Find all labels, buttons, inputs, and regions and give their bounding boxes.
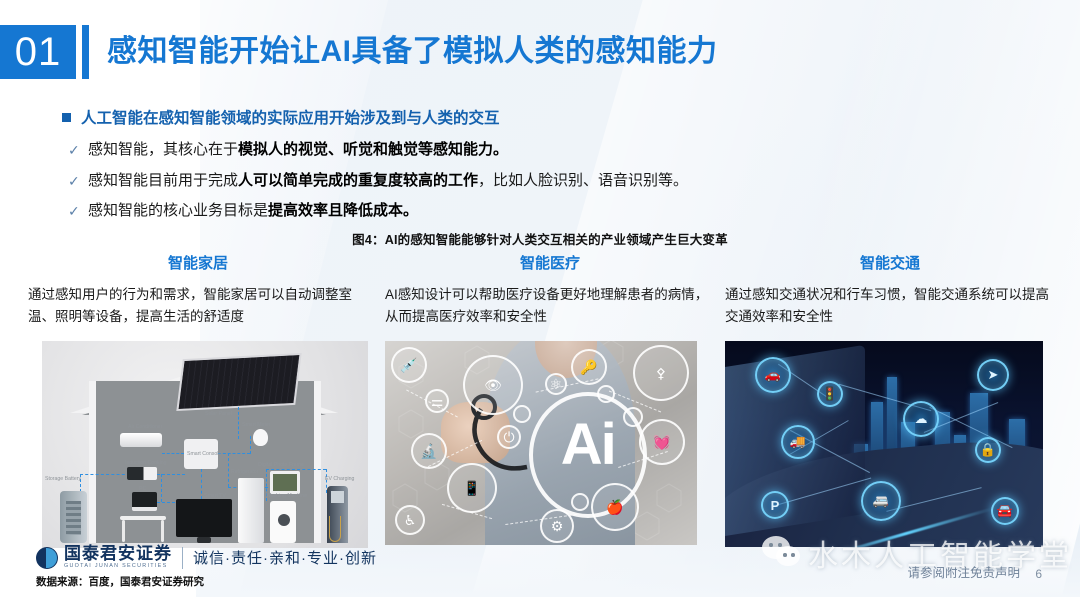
- logo-chinese-name: 国泰君安证券: [64, 545, 172, 562]
- microscope-icon: 🔬: [411, 433, 447, 469]
- image-label: EV Charging: [325, 476, 354, 482]
- ev-charging-cable: [329, 516, 341, 542]
- lead-bullet-row: 人工智能在感知智能领域的实际应用开始涉及到与人类的交互: [62, 106, 500, 128]
- image-label: Air Conditioner: [128, 424, 162, 430]
- connection-line: [218, 453, 250, 454]
- smart-home-image: Solar Panel Smart Meter Air Conditioner …: [42, 341, 368, 548]
- navigation-node-icon: ➤: [977, 359, 1009, 391]
- guotai-junan-logo-icon: [36, 547, 58, 569]
- thermometer-icon: ⚌: [425, 389, 449, 413]
- header-divider-bar: [82, 25, 89, 79]
- check-list: ✓ 感知智能，其核心在于模拟人的视觉、听觉和触觉等感知能力。 ✓ 感知智能目前用…: [68, 140, 1028, 232]
- tv-stand: [197, 537, 211, 543]
- column-smart-traffic: 智能交通 通过感知交通状况和行车习惯，智能交通系统可以提高交通效率和安全性: [725, 252, 1055, 328]
- page-number: 6: [1035, 567, 1042, 581]
- image-label: Storage Battery: [45, 476, 81, 482]
- desk-top: [120, 516, 166, 520]
- image-label: Solar Panel: [205, 411, 232, 417]
- small-node-icon: [597, 385, 615, 403]
- logo-english-name: GUOTAI JUNAN SECURITIES: [64, 562, 172, 570]
- accessibility-icon: ♿: [395, 505, 425, 535]
- list-item: ✓ 感知智能目前用于完成人可以简单完成的重复度较高的工作，比如人脸识别、语音识别…: [68, 171, 1028, 191]
- image-label: Smart TV: [204, 493, 226, 499]
- cloud-node-icon: ☁: [903, 401, 939, 437]
- list-item-text: 感知智能的核心业务目标是提高效率且降低成本。: [88, 201, 418, 221]
- car-node-icon: 🚗: [755, 357, 791, 393]
- connection-line: [80, 474, 130, 475]
- smart-meter-icon: [253, 429, 268, 446]
- pharmacy-icon: ⚴: [633, 345, 689, 401]
- list-item-plain-1: 感知智能的核心业务目标是: [88, 202, 268, 219]
- column-smart-home: 智能家居 通过感知用户的行为和需求，智能家居可以自动调整室温、照明等设备，提高生…: [28, 252, 368, 328]
- column-smart-medical: 智能医疗 AI感知设计可以帮助医疗设备更好地理解患者的病情，从而提高医疗效率和安…: [385, 252, 715, 328]
- power-icon: ⏻: [497, 425, 521, 449]
- list-item-bold: 人可以简单完成的重复度较高的工作: [238, 172, 478, 189]
- eye-icon: 👁: [463, 355, 523, 415]
- image-label: Induction Cooking: [125, 460, 167, 466]
- slide-header: 01 感知智能开始让AI具备了模拟人类的感知能力: [0, 25, 718, 79]
- column-description: 通过感知交通状况和行车习惯，智能交通系统可以提高交通效率和安全性: [725, 284, 1055, 328]
- desk-leg: [122, 520, 125, 542]
- section-number-badge: 01: [0, 25, 76, 79]
- connection-line: [228, 453, 229, 487]
- truck-node-icon: 🚚: [781, 425, 815, 459]
- data-source-note: 数据来源：百度，国泰君安证券研究: [36, 574, 377, 589]
- car-node-icon-2: 🚘: [991, 497, 1019, 525]
- slide-footer: 国泰君安证券 GUOTAI JUNAN SECURITIES 诚信·责任·亲和·…: [36, 545, 377, 589]
- image-label: PC: [139, 486, 146, 492]
- smart-traffic-image: 🚗 🚦 🚚 ☁ ➤ 🔒 🚐 P 🚘: [725, 341, 1043, 547]
- smartphone-icon: 📱: [447, 463, 497, 513]
- check-icon: ✓: [68, 171, 88, 191]
- small-node-icon: [571, 493, 589, 511]
- image-label: Washing Machine: [266, 493, 307, 499]
- column-heading: 智能交通: [725, 252, 1055, 273]
- slide-canvas: 01 感知智能开始让AI具备了模拟人类的感知能力 人工智能在感知智能领域的实际应…: [0, 0, 1080, 597]
- digital-photo-frame-icon: [270, 471, 300, 494]
- figure-caption: 图4：AI的感知智能能够针对人类交互相关的产业领域产生巨大变革: [0, 229, 1080, 248]
- connection-line: [266, 469, 326, 470]
- column-heading: 智能医疗: [385, 252, 715, 273]
- column-description: AI感知设计可以帮助医疗设备更好地理解患者的病情，从而提高医疗效率和安全性: [385, 284, 715, 328]
- check-icon: ✓: [68, 201, 88, 221]
- bus-node-icon: 🚐: [861, 481, 901, 521]
- gear-icon: ⚙: [540, 509, 574, 543]
- company-slogan: 诚信·责任·亲和·专业·创新: [193, 547, 377, 568]
- apple-icon: 🍎: [591, 483, 639, 531]
- image-label: Digital Photo Frame: [258, 462, 304, 468]
- column-heading: 智能家居: [28, 252, 368, 273]
- connection-line: [162, 453, 184, 454]
- syringe-icon: 💉: [391, 347, 427, 383]
- list-item-plain-1: 感知智能，其核心在于: [88, 141, 238, 158]
- lock-node-icon: 🔒: [975, 437, 1001, 463]
- column-description: 通过感知用户的行为和需求，智能家居可以自动调整室温、照明等设备，提高生活的舒适度: [28, 284, 368, 328]
- solar-panel-icon: [176, 353, 301, 411]
- lead-bullet-text: 人工智能在感知智能领域的实际应用开始涉及到与人类的交互: [81, 106, 500, 128]
- square-bullet-icon: [62, 113, 71, 122]
- small-node-icon: [513, 405, 531, 423]
- image-label: Refrigerator: [231, 469, 258, 475]
- connection-line: [201, 469, 202, 499]
- refrigerator-icon: [238, 478, 264, 543]
- list-item-text: 感知智能目前用于完成人可以简单完成的重复度较高的工作，比如人脸识别、语音识别等。: [88, 171, 688, 191]
- list-item: ✓ 感知智能的核心业务目标是提高效率且降低成本。: [68, 201, 1028, 221]
- storage-battery-cells: [66, 501, 81, 535]
- image-label: Smart Console: [187, 451, 221, 457]
- connection-line: [250, 436, 251, 454]
- air-conditioner-icon: [120, 433, 162, 447]
- logo-text-block: 国泰君安证券 GUOTAI JUNAN SECURITIES: [64, 545, 172, 570]
- list-item-plain-1: 感知智能目前用于完成: [88, 172, 238, 189]
- disclaimer-note: 请参阅附注免责声明: [907, 562, 1020, 581]
- list-item-bold: 模拟人的视觉、听觉和触觉等感知能力。: [238, 141, 508, 158]
- list-item-plain-2: ，比如人脸识别、语音识别等。: [478, 172, 688, 189]
- heart-rate-icon: 💓: [639, 419, 685, 465]
- small-node-icon: [623, 407, 643, 427]
- list-item-text: 感知智能，其核心在于模拟人的视觉、听觉和触觉等感知能力。: [88, 140, 508, 160]
- induction-cooking-icon: [127, 467, 157, 480]
- page-title: 感知智能开始让AI具备了模拟人类的感知能力: [107, 25, 718, 79]
- footer-logo-row: 国泰君安证券 GUOTAI JUNAN SECURITIES 诚信·责任·亲和·…: [36, 545, 377, 570]
- smart-tv-icon: [176, 499, 232, 537]
- medical-ai-image: Ai 💉 ⚌ 👁 ⏻ 🔬 📱 ♿ ⚙ ⚛ 🔑 ⚴ 💓 🍎: [385, 341, 697, 545]
- ev-charging-screen: [331, 491, 344, 503]
- list-item-bold: 提高效率且降低成本。: [268, 202, 418, 219]
- washing-machine-door: [278, 514, 290, 526]
- parking-node-icon: P: [761, 491, 789, 519]
- logo-divider: [182, 547, 183, 569]
- check-icon: ✓: [68, 140, 88, 160]
- dna-icon: ⚛: [545, 373, 567, 395]
- traffic-light-icon: 🚦: [817, 381, 843, 407]
- connection-line: [238, 407, 239, 439]
- image-label: Smart Meter: [242, 422, 271, 428]
- list-item: ✓ 感知智能，其核心在于模拟人的视觉、听觉和触觉等感知能力。: [68, 140, 1028, 160]
- connection-line: [161, 474, 162, 502]
- key-icon: 🔑: [571, 349, 607, 385]
- desk-leg: [161, 520, 164, 542]
- pc-icon: [132, 492, 157, 511]
